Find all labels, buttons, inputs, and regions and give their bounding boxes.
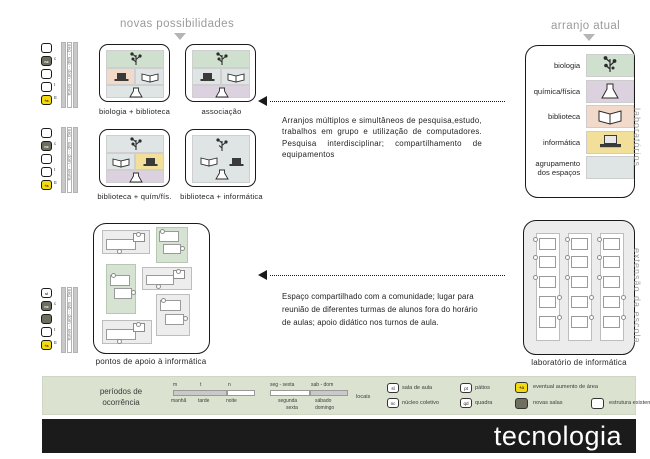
chip-label: sl	[42, 289, 51, 299]
bar-week-4	[61, 127, 66, 193]
lab-name: agrupamento dos espaços	[532, 159, 586, 177]
period-bar-gray	[173, 390, 227, 396]
code-qd: qd	[460, 398, 472, 408]
ws-column-1	[536, 233, 560, 341]
week-name-domingo: domingo	[315, 405, 334, 411]
tile-purple-flask	[192, 85, 250, 98]
chevron-down-icon-left	[174, 33, 186, 40]
diagram-laboratorio-informatica[interactable]	[523, 220, 635, 355]
vertical-label-laboratorios-wrap: laboratórios	[642, 108, 650, 118]
tile-book	[106, 153, 135, 170]
tile-pink	[106, 68, 135, 85]
lab-name: química/física	[532, 87, 586, 96]
lab-row-biologia[interactable]: biologia	[532, 54, 634, 77]
chip-nc-1[interactable]: nc	[41, 56, 52, 66]
schedule-chips-second: nc +a c t E seg - sab - dom - sexta	[41, 128, 91, 194]
chip-white-1[interactable]	[41, 43, 52, 53]
chip-aumento-1[interactable]: +a	[41, 95, 52, 105]
period-name-noite: noite	[226, 398, 237, 404]
arrow-left-top	[258, 96, 267, 106]
period-name-tarde: tarde	[198, 398, 209, 404]
caption-card-3: biblioteca + quím/fís.	[89, 192, 180, 201]
vertical-label-extensao-wrap: extensão da escola	[642, 248, 650, 258]
week-bar-gray	[310, 390, 348, 396]
tile-green	[106, 50, 164, 68]
book-icon	[107, 154, 136, 171]
tick-c-2: c	[54, 141, 56, 146]
period-bar-white	[227, 390, 255, 396]
week-name-sexta: sexta	[286, 405, 298, 411]
period-code-n: n	[228, 382, 231, 388]
schedule-chips-top: nc +a c t E seg - sab - dom - sexta	[41, 43, 91, 109]
chip-white-5[interactable]	[41, 154, 52, 164]
caption-card-2: associação	[176, 107, 267, 116]
flask-icon	[107, 86, 165, 99]
legend-periods-group: m t n manhã tarde noite	[173, 382, 255, 410]
period-name-manha: manhã	[171, 398, 186, 404]
code-sl: sl	[387, 383, 399, 393]
bar-week-3	[73, 42, 78, 108]
book-icon	[136, 69, 165, 86]
card-biologia-biblioteca[interactable]	[99, 44, 170, 102]
bar-week-1	[61, 42, 66, 108]
label-estrutura-existente: estrutura existente	[609, 400, 650, 406]
lab-swatch	[586, 54, 634, 77]
chip-label: nc	[42, 142, 51, 152]
plant-icon	[597, 56, 623, 76]
tile-book	[221, 68, 250, 85]
bar-week-9	[73, 287, 78, 353]
bar-week-7	[61, 287, 66, 353]
laptop-icon	[107, 69, 136, 86]
schedule-chips-bottom: sl nc +a c t E seg - sab - dom - sexta	[41, 288, 91, 354]
heading-novas-possibilidades: novas possibilidades	[120, 18, 234, 30]
vertical-label-extensao: extensão da escola	[632, 248, 642, 344]
lab-row-agrupamento[interactable]: agrupamento dos espaços	[532, 156, 634, 179]
plant-icon	[107, 51, 165, 69]
period-code-m: m	[173, 382, 177, 388]
tile-lightning	[106, 135, 164, 153]
lab-row-informatica[interactable]: informática	[532, 131, 634, 154]
chip-sl-1[interactable]: sl	[41, 288, 52, 298]
dotted-line-bottom	[270, 275, 505, 276]
tile-flask	[106, 85, 164, 98]
tile-book	[135, 68, 164, 85]
lab-swatch	[586, 105, 634, 128]
chip-white-2[interactable]	[41, 69, 52, 79]
tick-e-3: E	[54, 340, 57, 345]
swatch-novas-salas	[515, 398, 528, 409]
diagram-pontos-apoio[interactable]	[93, 223, 210, 354]
label-aumento-area: eventual aumento de área	[533, 384, 598, 390]
tick-c-1: c	[54, 56, 56, 61]
chip-white-6[interactable]	[41, 167, 52, 177]
heading-arranjo-atual: arranjo atual	[551, 20, 620, 32]
lab-name: biologia	[532, 61, 586, 70]
card-associacao[interactable]	[185, 44, 256, 102]
lab-swatch	[586, 156, 634, 179]
ws-cluster-5	[156, 294, 190, 336]
chip-label: nc	[42, 302, 51, 312]
paragraph-top: Arranjos múltiplos e simultâneos de pesq…	[282, 115, 482, 161]
lab-name: biblioteca	[532, 112, 586, 121]
panel-laboratorios[interactable]: biologia química/física	[525, 45, 635, 198]
laptop-icon	[193, 69, 222, 86]
chip-white-7[interactable]	[41, 327, 52, 337]
flask-icon	[107, 171, 165, 184]
chip-nc-3[interactable]: nc	[41, 301, 52, 311]
period-code-t: t	[200, 382, 201, 388]
ws-cluster-2	[156, 227, 188, 263]
label-nucleo-coletivo: núcleo coletivo	[402, 400, 439, 406]
lab-row-quimica-fisica[interactable]: química/física	[532, 80, 634, 103]
legend-week-group: seg - sexta sab - dom segunda sábado sex…	[270, 382, 350, 414]
laptop-icon	[595, 132, 625, 152]
banner-title: tecnologia	[494, 421, 622, 452]
label-novas-salas: novas salas	[533, 400, 563, 406]
swatch-estrutura	[591, 398, 604, 409]
legend-locais-title: locais	[356, 394, 370, 400]
chip-dark-2[interactable]	[41, 314, 52, 324]
chevron-down-icon-right	[583, 34, 595, 41]
label-sala-de-aula: sala de aula	[402, 385, 432, 391]
tick-t-1: t	[54, 82, 55, 87]
week-bar-white	[270, 390, 310, 396]
lab-row-biblioteca[interactable]: biblioteca	[532, 105, 634, 128]
label-patios: pátios	[475, 385, 490, 391]
ws-cluster-3	[106, 264, 136, 314]
laptop-icon	[136, 154, 165, 171]
plant-icon	[107, 136, 165, 154]
bottom-banner: tecnologia	[42, 419, 636, 453]
week-code-seg-sexta: seg - sexta	[270, 382, 294, 388]
week-code-sab-dom: sab - dom	[311, 382, 333, 388]
tick-t-3: t	[54, 327, 55, 332]
plant-icon	[193, 51, 251, 69]
tile-gray-full	[192, 135, 250, 183]
label-quadra: quadra	[475, 400, 492, 406]
schedule-vertical-label-top: seg - sab - dom - sexta	[67, 44, 72, 96]
code-pt: pt	[460, 383, 472, 393]
legend-bar: períodos de ocorrência m t n manhã tarde…	[42, 376, 636, 415]
chip-label: +a	[42, 341, 51, 351]
chip-white-3[interactable]	[41, 82, 52, 92]
tick-e-1: E	[54, 95, 57, 100]
week-name-sabado: sábado	[315, 398, 331, 404]
ws-column-2	[568, 233, 592, 341]
lab-swatch	[586, 80, 634, 103]
arrow-left-bottom	[258, 270, 267, 280]
ws-column-3	[600, 233, 624, 341]
week-name-segunda: segunda	[278, 398, 297, 404]
tile-laptop	[192, 68, 221, 85]
schedule-vertical-label-second: seg - sab - dom - sexta	[67, 129, 72, 181]
chip-label: +a	[42, 181, 51, 191]
tile-yellow-laptop	[135, 153, 164, 170]
ws-cluster-4	[142, 267, 192, 290]
tick-t-2: t	[54, 167, 55, 172]
chip-white-4[interactable]	[41, 128, 52, 138]
chip-nc-2[interactable]: nc	[41, 141, 52, 151]
book-icon	[595, 107, 625, 127]
schedule-vertical-label-bottom: seg - sab - dom - sexta	[67, 289, 72, 341]
tick-c-3: c	[54, 301, 56, 306]
chip-aumento-3[interactable]: +a	[41, 340, 52, 350]
ws-cluster-1	[102, 230, 150, 254]
legend-periodos-title: períodos de ocorrência	[81, 386, 161, 408]
lab-name: informática	[532, 138, 586, 147]
tick-e-2: E	[54, 180, 57, 185]
tile-green	[192, 50, 250, 68]
paragraph-bottom: Espaço compartilhado com a comunidade; l…	[282, 290, 487, 329]
caption-card-4: biblioteca + informática	[176, 192, 267, 201]
vertical-label-laboratorios: laboratórios	[632, 108, 642, 167]
swatch-aumento: +a	[515, 382, 528, 393]
flask-icon	[193, 86, 251, 99]
bar-week-6	[73, 127, 78, 193]
chip-label: +a	[42, 96, 51, 106]
chip-aumento-2[interactable]: +a	[41, 180, 52, 190]
book-icon	[222, 69, 251, 86]
caption-laboratorio-informatica: laboratório de informática	[513, 358, 645, 367]
poster-canvas: novas possibilidades arranjo atual nc +a…	[0, 0, 650, 459]
dotted-line-top	[270, 101, 505, 102]
lab-swatch	[586, 131, 634, 154]
combined-icons	[193, 136, 251, 184]
swatch-code: +a	[516, 383, 527, 393]
card-biblioteca-informatica[interactable]	[185, 129, 256, 187]
tile-purple-flask	[106, 170, 164, 183]
caption-card-1: biologia + biblioteca	[89, 107, 180, 116]
card-biblioteca-quimica[interactable]	[99, 129, 170, 187]
flask-icon	[597, 81, 623, 101]
chip-label: nc	[42, 57, 51, 67]
ws-cluster-6	[102, 320, 152, 344]
caption-pontos-apoio: pontos de apoio à informática	[86, 357, 216, 366]
code-nc: nc	[387, 398, 399, 408]
